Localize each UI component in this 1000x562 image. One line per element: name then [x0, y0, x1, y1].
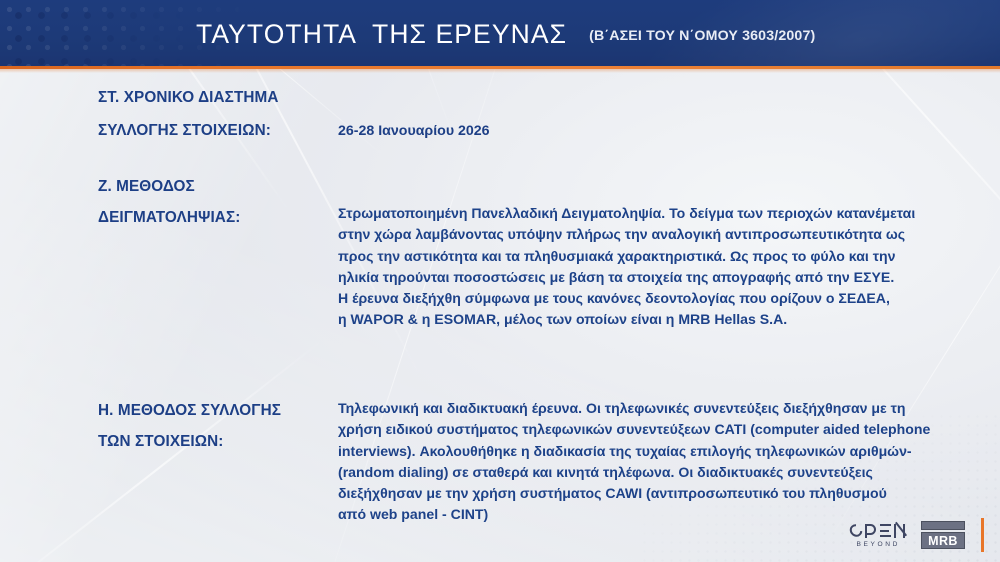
mrb-logo-text: MRB — [921, 532, 965, 549]
mrb-logo: MRB — [921, 521, 965, 550]
footer-accent-tick — [981, 518, 984, 552]
section-label-sampling-line1: Ζ. ΜΕΘΟΔΟΣ — [98, 172, 195, 202]
section-label-sampling-line2: ΔΕΙΓΜΑΤΟΛΗΨΙΑΣ: — [98, 203, 240, 233]
mrb-logo-bar — [921, 521, 965, 530]
letter-o-icon — [847, 522, 865, 540]
open-beyond-tagline: BEYOND — [855, 541, 900, 548]
section-label-collection-line1: Η. ΜΕΘΟΔΟΣ ΣΥΛΛΟΓΗΣ — [98, 396, 281, 426]
section-label-period-line1: ΣΤ. ΧΡΟΝΙΚΟ ΔΙΑΣΤΗΜΑ — [98, 83, 279, 113]
section-label-collection-line2: ΤΩΝ ΣΤΟΙΧΕΙΩΝ: — [98, 427, 224, 457]
letter-n-icon — [894, 524, 905, 538]
content-area: ΣΤ. ΧΡΟΝΙΚΟ ΔΙΑΣΤΗΜΑ ΣΥΛΛΟΓΗΣ ΣΤΟΙΧΕΙΩΝ:… — [0, 0, 1000, 562]
letter-p-icon — [865, 524, 876, 538]
section-value-period: 26-28 Ιανουαρίου 2026 — [338, 120, 490, 142]
section-body-sampling: Στρωματοποιημένη Πανελλαδική Δειγματοληψ… — [338, 203, 988, 331]
open-beyond-logo: BEYOND — [850, 523, 906, 548]
open-wordmark-icon — [850, 523, 906, 539]
slide-root: ΤΑΥΤΟΤΗΤΑ ΤΗΣ ΕΡΕΥΝΑΣ (Β΄ΑΣΕΙ ΤΟΥ Ν΄ΟΜΟΥ… — [0, 0, 1000, 562]
footer-logo-group: BEYOND MRB — [850, 518, 985, 552]
section-body-collection: Τηλεφωνική και διαδικτυακή έρευνα. Οι τη… — [338, 398, 988, 526]
letter-e-icon — [880, 524, 891, 538]
section-label-period-line2: ΣΥΛΛΟΓΗΣ ΣΤΟΙΧΕΙΩΝ: — [98, 116, 271, 146]
